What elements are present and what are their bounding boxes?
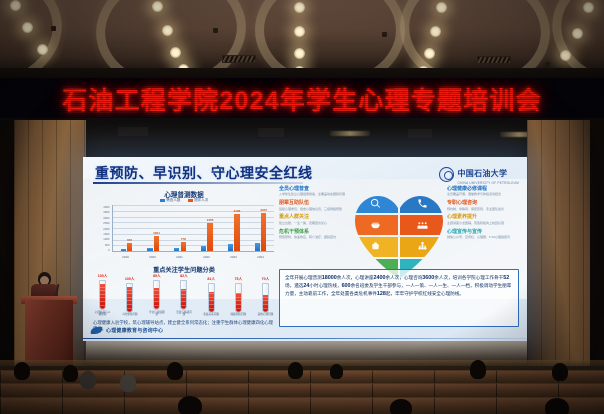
ceiling-downlight [583, 2, 594, 13]
info-text: 小时心理热线， [309, 283, 341, 288]
audience-head [545, 398, 569, 414]
slide-footer-rule [83, 338, 527, 340]
ceiling-downlight [436, 2, 447, 13]
bar-group: 3347 [255, 205, 267, 251]
info-highlight-number: 2400 [374, 275, 386, 281]
heart-label-body: 班级心理委员、宿舍心理信息员，三级网络预警 [279, 208, 351, 212]
bar-series1 [121, 249, 126, 251]
audience-head [288, 362, 303, 379]
heart-label-body: 全员覆盖开课，课堂教学与体验活动结合 [447, 193, 519, 197]
ceiling-downlight [430, 26, 441, 37]
bar-group: 2465 [201, 205, 213, 251]
info-text: 场，遴选 [285, 283, 303, 288]
chart-legend: 筛查人数 测评人次 [91, 198, 277, 203]
tube-ticks [181, 281, 186, 309]
bar-value-label: 778 [181, 237, 186, 241]
led-banner: 石油工程学院2024年学生心理专题培训会 [0, 78, 604, 120]
tube-value-label: 70人 [262, 277, 270, 282]
slide-title-underline [93, 182, 303, 184]
seat-row [0, 397, 604, 414]
tube-bar: 85人学业与发展困扰 [149, 274, 164, 317]
ceiling-downlight [22, 22, 33, 33]
heart-label-item: 朋辈互助队伍班级心理委员、宿舍心理信息员，三级网络预警 [279, 201, 351, 211]
summary-info-box: 全年开展心理普测18000余人次，心理讲座2400余人次，心理咨询3600余人次… [279, 269, 519, 327]
heart-diagram [353, 193, 445, 279]
audience-head [14, 362, 30, 380]
ceiling-speaker [545, 62, 550, 67]
heart-segments [353, 193, 445, 279]
wall-light-fixture [330, 131, 370, 136]
heart-segment-group[interactable] [400, 215, 445, 235]
heart-label-body: 建立台账，一生一策，定期回访谈心 [279, 222, 351, 226]
info-highlight-number: 52 [503, 275, 509, 281]
tube-ticks [236, 284, 241, 312]
heart-segment-brain[interactable] [353, 237, 398, 257]
bar-group: 3198 [228, 205, 240, 251]
ceiling-downlight [294, 2, 305, 13]
bar-group: 672 [121, 205, 133, 251]
y-tick: 2500 [103, 221, 109, 225]
bar-series1 [228, 244, 233, 251]
audience-head [63, 365, 78, 382]
tube-bar: 100人人际交往问题 [122, 277, 137, 317]
tube-body [153, 280, 160, 310]
tube-bar: 75人情绪调适问题 [231, 277, 246, 317]
audience-head [120, 374, 136, 392]
tube-category-label: 心理疾病与人格障碍 [94, 312, 111, 317]
tube-value-label: 75人 [234, 277, 242, 282]
wall-left-shadow [0, 120, 14, 372]
heart-label-heading: 专职心理咨询 [447, 201, 519, 207]
tube-category-label: 其他心理问题 [257, 314, 274, 317]
ceiling-vent [477, 56, 511, 64]
tube-value-label: 100人 [125, 277, 135, 282]
tube-body [235, 283, 242, 313]
tube-value-label: 85人 [153, 274, 161, 279]
chart-title: 重点关注学生问题分类 [91, 265, 277, 274]
wall-fixture-dark [258, 128, 284, 137]
y-tick: 3000 [103, 216, 109, 220]
bar-value-label: 672 [127, 238, 132, 242]
slide-footer: 心理健康教育与咨询中心 [91, 326, 163, 335]
tube-ticks [154, 281, 159, 309]
x-tick: 2020 [146, 255, 160, 259]
audience-head [552, 363, 568, 381]
audience-head [390, 399, 412, 414]
tube-value-label: 100人 [98, 274, 108, 279]
legend-item: 筛查人数 [160, 198, 181, 203]
auditorium-scene: 石油工程学院2024年学生心理专题培训会 重预防、早识别、守心理安全红线 中国石… [0, 0, 604, 414]
chart-bars: 6721294778246531983347 [113, 205, 274, 251]
y-tick: 2000 [103, 227, 109, 231]
ceiling-downlight [152, 1, 163, 12]
bar-chart-psych-survey: 心理普测数据 筛查人数 测评人次 4000 3500 3000 2500 200… [91, 189, 277, 261]
heart-segment-mask[interactable] [353, 215, 398, 235]
info-text: 全年开展心理普测 [285, 275, 322, 280]
tube-ticks [127, 284, 132, 312]
audience-head [80, 371, 96, 389]
bar-value-label: 1294 [153, 231, 160, 235]
tube-body [126, 283, 133, 313]
audience-head [178, 396, 202, 414]
info-text: 起，牢牢守护学校红线安全心理防线。 [386, 291, 464, 296]
y-tick: 4000 [103, 205, 109, 209]
tube-bar: 100人心理疾病与人格障碍 [95, 274, 110, 317]
tube-bar: 82人恋爱与情感问题 [176, 274, 191, 317]
university-name: 中国石油大学 [457, 169, 507, 178]
bar-series1 [201, 246, 206, 251]
tube-bar: 70人其他心理问题 [258, 277, 273, 317]
audience-head [167, 362, 183, 380]
x-tick: 2022 [200, 255, 214, 259]
wall-right-shadow [590, 120, 604, 372]
university-subtitle: CHINA UNIVERSITY OF PETROLEUM [457, 181, 519, 185]
tube-category-label: 情绪调适问题 [230, 314, 247, 317]
info-text: 余人次，心理咨询 [386, 275, 423, 280]
heart-label-body: 主题讲座沙龙团辅，营造积极向上校园氛围 [447, 222, 519, 226]
center-logo-icon [91, 326, 103, 335]
tube-ticks [100, 281, 105, 309]
bar-series2: 3347 [261, 213, 266, 251]
x-tick: 2019 [119, 255, 133, 259]
ceiling-downlight [572, 28, 583, 39]
search-icon [370, 198, 381, 209]
audience-head [330, 364, 343, 379]
heart-label-item: 重点人群关注建立台账，一生一策，定期回访谈心 [279, 215, 351, 225]
ceiling-downlight [162, 25, 173, 36]
x-tick: 2024 [254, 255, 268, 259]
wall-fixture-dark [408, 129, 432, 138]
university-seal-icon [439, 167, 454, 182]
heart-label-body: 预约制、零等待、保密原则，专业团队坐诊 [447, 208, 519, 212]
bar-series2: 778 [181, 242, 186, 251]
tube-value-label: 81人 [207, 277, 215, 282]
university-logo: 中国石油大学 CHINA UNIVERSITY OF PETROLEUM [439, 163, 519, 185]
tube-body [180, 280, 187, 310]
legend-label: 筛查人数 [166, 198, 180, 203]
bar-series2: 672 [127, 243, 132, 251]
y-tick: 1500 [103, 232, 109, 236]
info-text: 余人次，心理讲座 [337, 275, 374, 280]
wall-fixture-dark [118, 127, 148, 136]
tube-category-label: 家庭关系问题 [203, 314, 220, 317]
info-highlight-number: 600 [342, 283, 351, 289]
heart-label-body: 微信公众号、宣传栏、心理剧、5·25心理健康月 [447, 236, 519, 240]
ceiling-downlight [560, 50, 571, 61]
charts-panel: 心理普测数据 筛查人数 测评人次 4000 3500 3000 2500 200… [91, 189, 277, 335]
tube-category-label: 人际交往问题 [121, 314, 138, 317]
network-icon [417, 241, 428, 252]
y-tick: 1000 [103, 237, 109, 241]
chart-y-axis-labels: 4000 3500 3000 2500 2000 1500 1000 500 0 [91, 205, 111, 252]
ceiling-downlight [37, 44, 48, 55]
ceiling-downlight [424, 48, 435, 59]
heart-label-item: 心理宣传与宣传微信公众号、宣传栏、心理剧、5·25心理健康月 [447, 230, 519, 240]
legend-label: 测评人次 [194, 198, 208, 203]
tube-value-label: 82人 [180, 274, 188, 279]
ceiling-downlight [294, 26, 305, 37]
brain-icon [370, 241, 381, 252]
heart-label-heading: 朋辈互助队伍 [279, 201, 351, 207]
bar-value-label: 3198 [234, 209, 241, 213]
heart-segment-network[interactable] [400, 237, 445, 257]
bar-series1 [174, 248, 179, 251]
projection-screen: 重预防、早识别、守心理安全红线 中国石油大学 CHINA UNIVERSITY … [83, 157, 527, 341]
x-tick: 2021 [173, 255, 187, 259]
phone-icon [417, 198, 428, 209]
tube-category-label: 恋爱与情感问题 [175, 312, 192, 317]
mask-icon [370, 220, 381, 231]
bar-series2: 1294 [154, 236, 159, 251]
heart-label-item: 专职心理咨询预约制、零等待、保密原则，专业团队坐诊 [447, 201, 519, 211]
bar-series2: 2465 [207, 223, 212, 251]
ceiling-downlight [10, 0, 21, 11]
bar-group: 1294 [147, 205, 159, 251]
heart-label-item: 全员心理普查入学新生建立心理健康档案，全覆盖动态跟踪管理 [279, 187, 351, 197]
slide-footer-label: 心理健康教育与咨询中心 [106, 327, 163, 334]
info-highlight-number: 128 [377, 291, 386, 297]
tube-ticks [209, 284, 214, 312]
heart-label-item: 心理素养提升主题讲座沙龙团辅，营造积极向上校园氛围 [447, 215, 519, 225]
tube-bars: 100人心理疾病与人格障碍100人人际交往问题85人学业与发展困扰82人恋爱与情… [95, 279, 273, 317]
slide-surface: 重预防、早识别、守心理安全红线 中国石油大学 CHINA UNIVERSITY … [83, 157, 527, 341]
led-banner-text: 石油工程学院2024年学生心理专题培训会 [62, 81, 542, 117]
y-tick: 0 [108, 248, 110, 252]
tube-ticks [263, 284, 268, 312]
tube-body [208, 283, 215, 313]
tube-bar: 81人家庭关系问题 [204, 277, 219, 317]
info-highlight-number: 18000 [322, 275, 337, 281]
y-tick: 500 [105, 243, 110, 247]
info-text: 余人次，培训各学院心理工作骨干 [434, 275, 503, 280]
x-tick: 2023 [227, 255, 241, 259]
ceiling-speaker [213, 28, 218, 33]
chart-x-axis-labels: 201920202021202220232024 [112, 252, 274, 261]
tube-category-label: 学业与发展困扰 [148, 312, 165, 317]
heart-labels-right: 心理健康必修课程全员覆盖开课，课堂教学与体验活动结合专职心理咨询预约制、零等待、… [447, 187, 519, 244]
legend-item: 测评人次 [188, 198, 209, 203]
heart-label-body: 入学新生建立心理健康档案，全覆盖动态跟踪管理 [279, 193, 351, 197]
bar-chart-focus-students: 重点关注学生问题分类 100人心理疾病与人格障碍100人人际交往问题85人学业与… [91, 265, 277, 335]
heart-label-body: 预警研判、快速响应、转介治疗、跟踪回访 [279, 236, 351, 240]
y-tick: 3500 [103, 210, 109, 214]
chart-plot-area: 6721294778246531983347 [112, 205, 274, 252]
bar-group: 778 [174, 205, 186, 251]
ceiling [0, 0, 604, 72]
info-highlight-number: 3600 [422, 275, 434, 281]
ceiling-downlight [170, 47, 181, 58]
ceiling-vent [222, 55, 256, 63]
bar-value-label: 3347 [260, 208, 267, 212]
ceiling-speaker [51, 26, 56, 31]
wall-below-banner [0, 118, 604, 160]
audience-head [470, 360, 486, 379]
heart-segment-search[interactable] [353, 193, 398, 213]
heart-label-item: 危机干预体系预警研判、快速响应、转介治疗、跟踪回访 [279, 230, 351, 240]
ceiling-downlight [294, 48, 305, 59]
ceiling-speaker [382, 32, 387, 37]
tube-body [262, 283, 269, 313]
heart-labels-left: 全员心理普查入学新生建立心理健康档案，全覆盖动态跟踪管理朋辈互助队伍班级心理委员… [279, 187, 351, 244]
heart-segment-phone[interactable] [400, 193, 445, 213]
bar-value-label: 2465 [207, 218, 214, 222]
people-group-icon [417, 220, 428, 231]
tube-body [99, 280, 106, 310]
bar-series2: 3198 [234, 214, 239, 251]
bar-series1 [147, 248, 152, 251]
bar-series1 [255, 243, 260, 251]
heart-label-item: 心理健康必修课程全员覆盖开课，课堂教学与体验活动结合 [447, 187, 519, 197]
slide-title: 重预防、早识别、守心理安全红线 [95, 163, 313, 183]
